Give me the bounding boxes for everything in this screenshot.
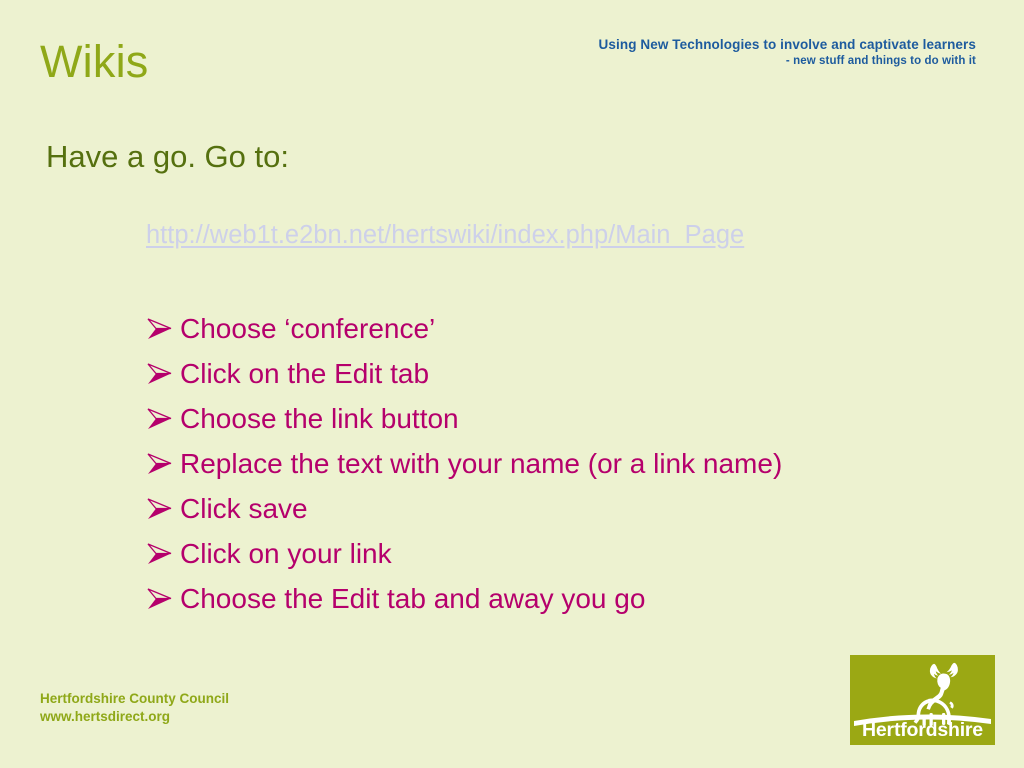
- hertfordshire-logo: Hertfordshire: [850, 655, 995, 745]
- footer-organisation: Hertfordshire County Council: [40, 690, 229, 708]
- list-item-label: Click on your link: [180, 531, 392, 576]
- arrowhead-bullet-icon: [146, 576, 180, 621]
- list-item: Click on your link: [146, 531, 782, 576]
- link-row: http://web1t.e2bn.net/hertswiki/index.ph…: [146, 219, 744, 251]
- list-item: Choose ‘conference’: [146, 306, 782, 351]
- arrowhead-bullet-icon: [146, 351, 180, 396]
- instruction-list: Choose ‘conference’ Click on the Edit ta…: [146, 306, 782, 621]
- page-title: Wikis: [40, 36, 148, 88]
- list-item-label: Click save: [180, 486, 308, 531]
- list-item-label: Choose the link button: [180, 396, 459, 441]
- list-item-label: Click on the Edit tab: [180, 351, 429, 396]
- list-item: Replace the text with your name (or a li…: [146, 441, 782, 486]
- list-item: Choose the Edit tab and away you go: [146, 576, 782, 621]
- arrowhead-bullet-icon: [146, 396, 180, 441]
- footer-website: www.hertsdirect.org: [40, 708, 229, 726]
- list-item-label: Choose ‘conference’: [180, 306, 435, 351]
- arrowhead-bullet-icon: [146, 306, 180, 351]
- footer: Hertfordshire County Council www.hertsdi…: [40, 690, 229, 726]
- header-title: Using New Technologies to involve and ca…: [456, 36, 976, 53]
- arrowhead-bullet-icon: [146, 441, 180, 486]
- list-item-label: Choose the Edit tab and away you go: [180, 576, 645, 621]
- list-item: Choose the link button: [146, 396, 782, 441]
- list-item: Click on the Edit tab: [146, 351, 782, 396]
- logo-wordmark: Hertfordshire: [850, 719, 995, 741]
- slide: Wikis Using New Technologies to involve …: [0, 0, 1024, 768]
- wiki-url-link[interactable]: http://web1t.e2bn.net/hertswiki/index.ph…: [146, 221, 744, 249]
- list-item-label: Replace the text with your name (or a li…: [180, 441, 782, 486]
- header-subtitle: - new stuff and things to do with it: [456, 53, 976, 69]
- presentation-header: Using New Technologies to involve and ca…: [456, 36, 976, 69]
- arrowhead-bullet-icon: [146, 531, 180, 576]
- lead-text: Have a go. Go to:: [46, 138, 289, 176]
- arrowhead-bullet-icon: [146, 486, 180, 531]
- list-item: Click save: [146, 486, 782, 531]
